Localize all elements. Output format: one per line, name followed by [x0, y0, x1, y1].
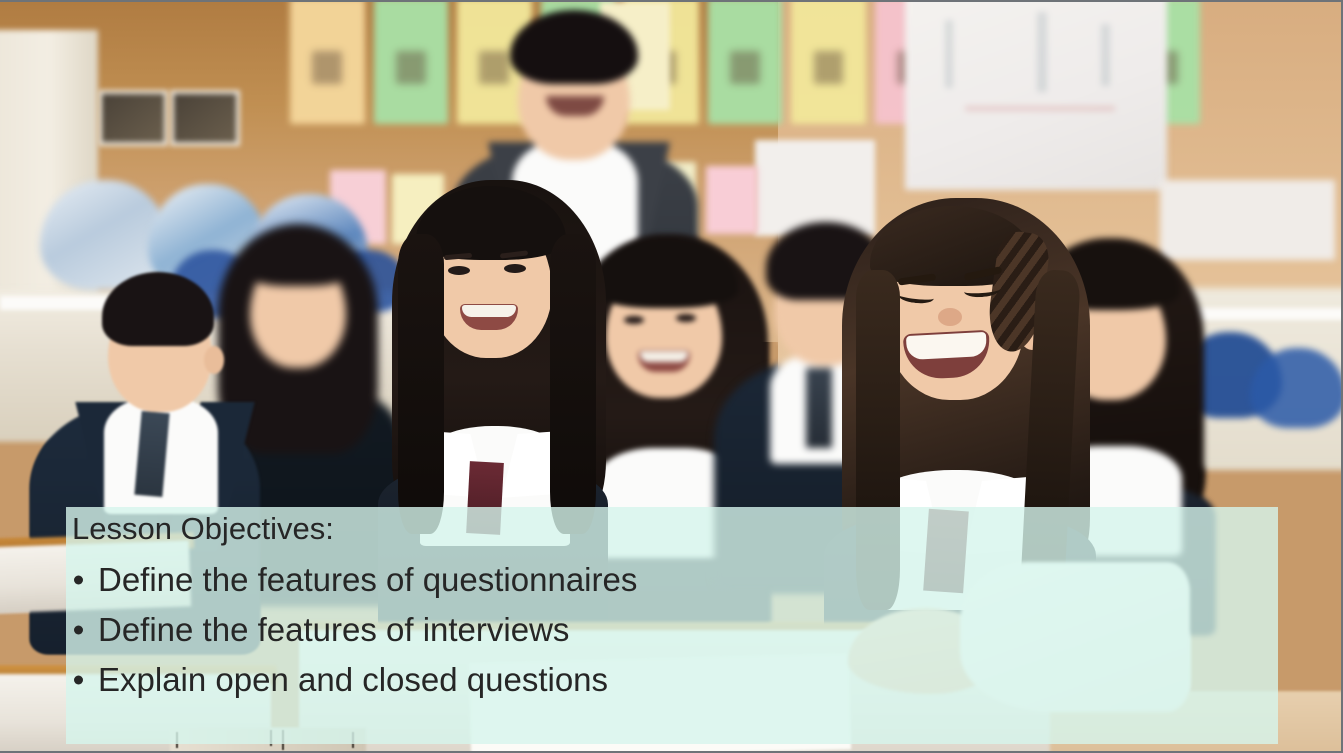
bullet-icon [74, 576, 83, 585]
wall-chart-paper [905, 2, 1167, 190]
list-item-label: Define the features of questionnaires [98, 559, 637, 601]
school-bag [1250, 348, 1341, 428]
wall-posting-small [706, 166, 758, 234]
wall-posting [290, 2, 365, 124]
lesson-objectives-title: Lesson Objectives: [72, 509, 334, 549]
presentation-slide: Lesson Objectives: Define the features o… [0, 0, 1343, 753]
wall-sheet [1160, 180, 1335, 260]
bullet-icon [74, 676, 83, 685]
wall-posting [708, 2, 783, 124]
lesson-objectives-list: Define the features of questionnaires De… [66, 555, 1278, 705]
bullet-icon [74, 626, 83, 635]
pinned-photo [170, 90, 240, 146]
wall-sheet [755, 140, 875, 236]
list-item: Define the features of questionnaires [66, 555, 1278, 605]
list-item: Explain open and closed questions [66, 655, 1278, 705]
list-item-label: Define the features of interviews [98, 609, 569, 651]
list-item-label: Explain open and closed questions [98, 659, 608, 701]
pinned-photo [98, 90, 168, 146]
lesson-objectives-box: Lesson Objectives: Define the features o… [66, 507, 1278, 744]
wall-posting [374, 2, 449, 124]
list-item: Define the features of interviews [66, 605, 1278, 655]
wall-posting [791, 2, 866, 124]
